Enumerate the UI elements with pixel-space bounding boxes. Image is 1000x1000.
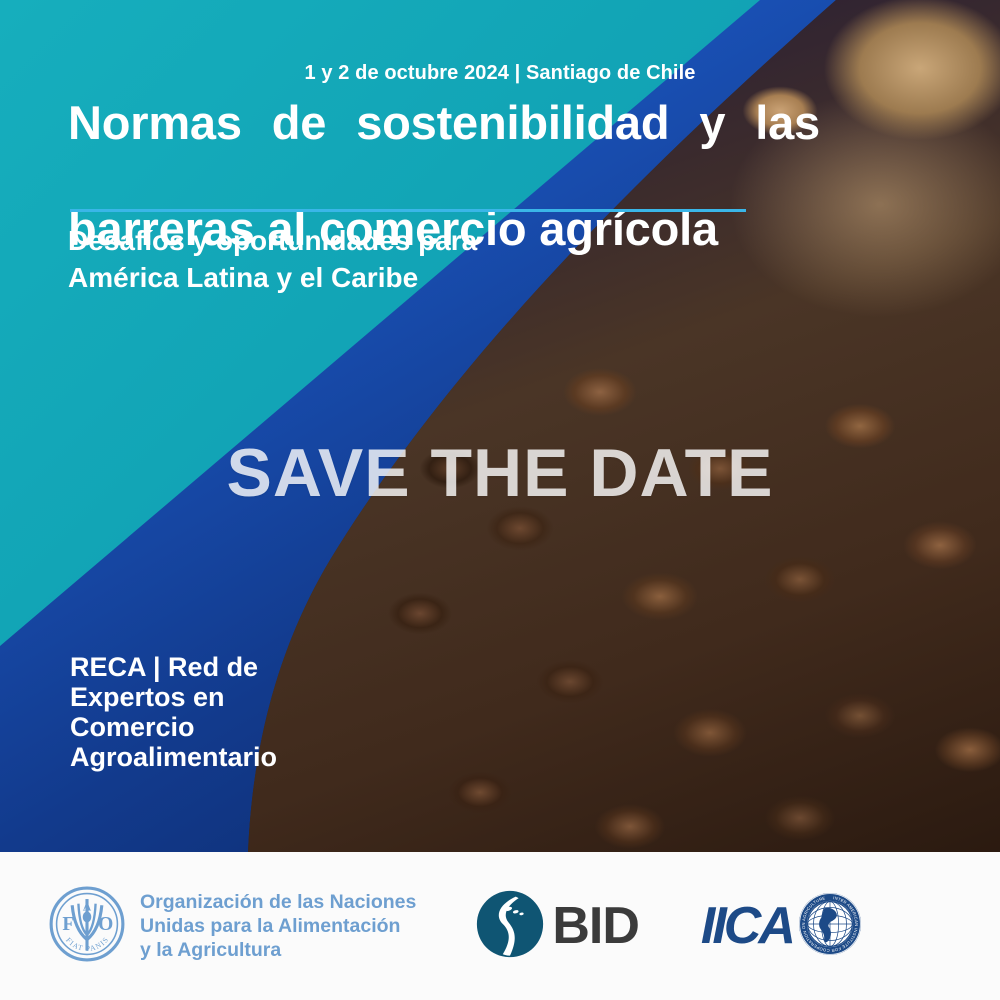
- event-date-location: 1 y 2 de octubre 2024 | Santiago de Chil…: [0, 62, 1000, 85]
- subtitle: Desafíos y oportunidades para América La…: [68, 222, 688, 296]
- iica-logo-text: IICA: [701, 896, 793, 956]
- footer-logo-bar: F O A FIAT PANIS Organización de las Nac…: [0, 852, 1000, 1000]
- poster: 1 y 2 de octubre 2024 | Santiago de Chil…: [0, 0, 1000, 1000]
- svg-text:O: O: [98, 914, 113, 935]
- title-line-1: Normas de sostenibilidad y las: [68, 96, 820, 202]
- subtitle-line-1: Desafíos y oportunidades para: [68, 222, 688, 259]
- network-label: RECA | Red de Expertos en Comercio Agroa…: [70, 652, 330, 772]
- fao-logo-text: Organización de las Naciones Unidas para…: [140, 890, 416, 962]
- iica-globe-seal-icon: INTER AMERICAN INSTITUTE FOR COOPERATION…: [797, 891, 863, 962]
- fao-logo: F O A FIAT PANIS Organización de las Nac…: [0, 885, 416, 968]
- iica-logo: IICA IN: [701, 891, 863, 962]
- bid-emblem-icon: [474, 888, 546, 965]
- svg-text:F: F: [62, 914, 74, 935]
- bid-logo: BID: [416, 888, 639, 965]
- hero-graphic: 1 y 2 de octubre 2024 | Santiago de Chil…: [0, 0, 1000, 852]
- save-the-date-banner: SAVE THE DATE: [0, 434, 1000, 512]
- title-divider: [70, 209, 746, 212]
- bid-logo-text: BID: [552, 896, 639, 956]
- fao-emblem-icon: F O A FIAT PANIS: [48, 885, 126, 968]
- svg-text:A: A: [83, 900, 92, 913]
- subtitle-line-2: América Latina y el Caribe: [68, 259, 688, 296]
